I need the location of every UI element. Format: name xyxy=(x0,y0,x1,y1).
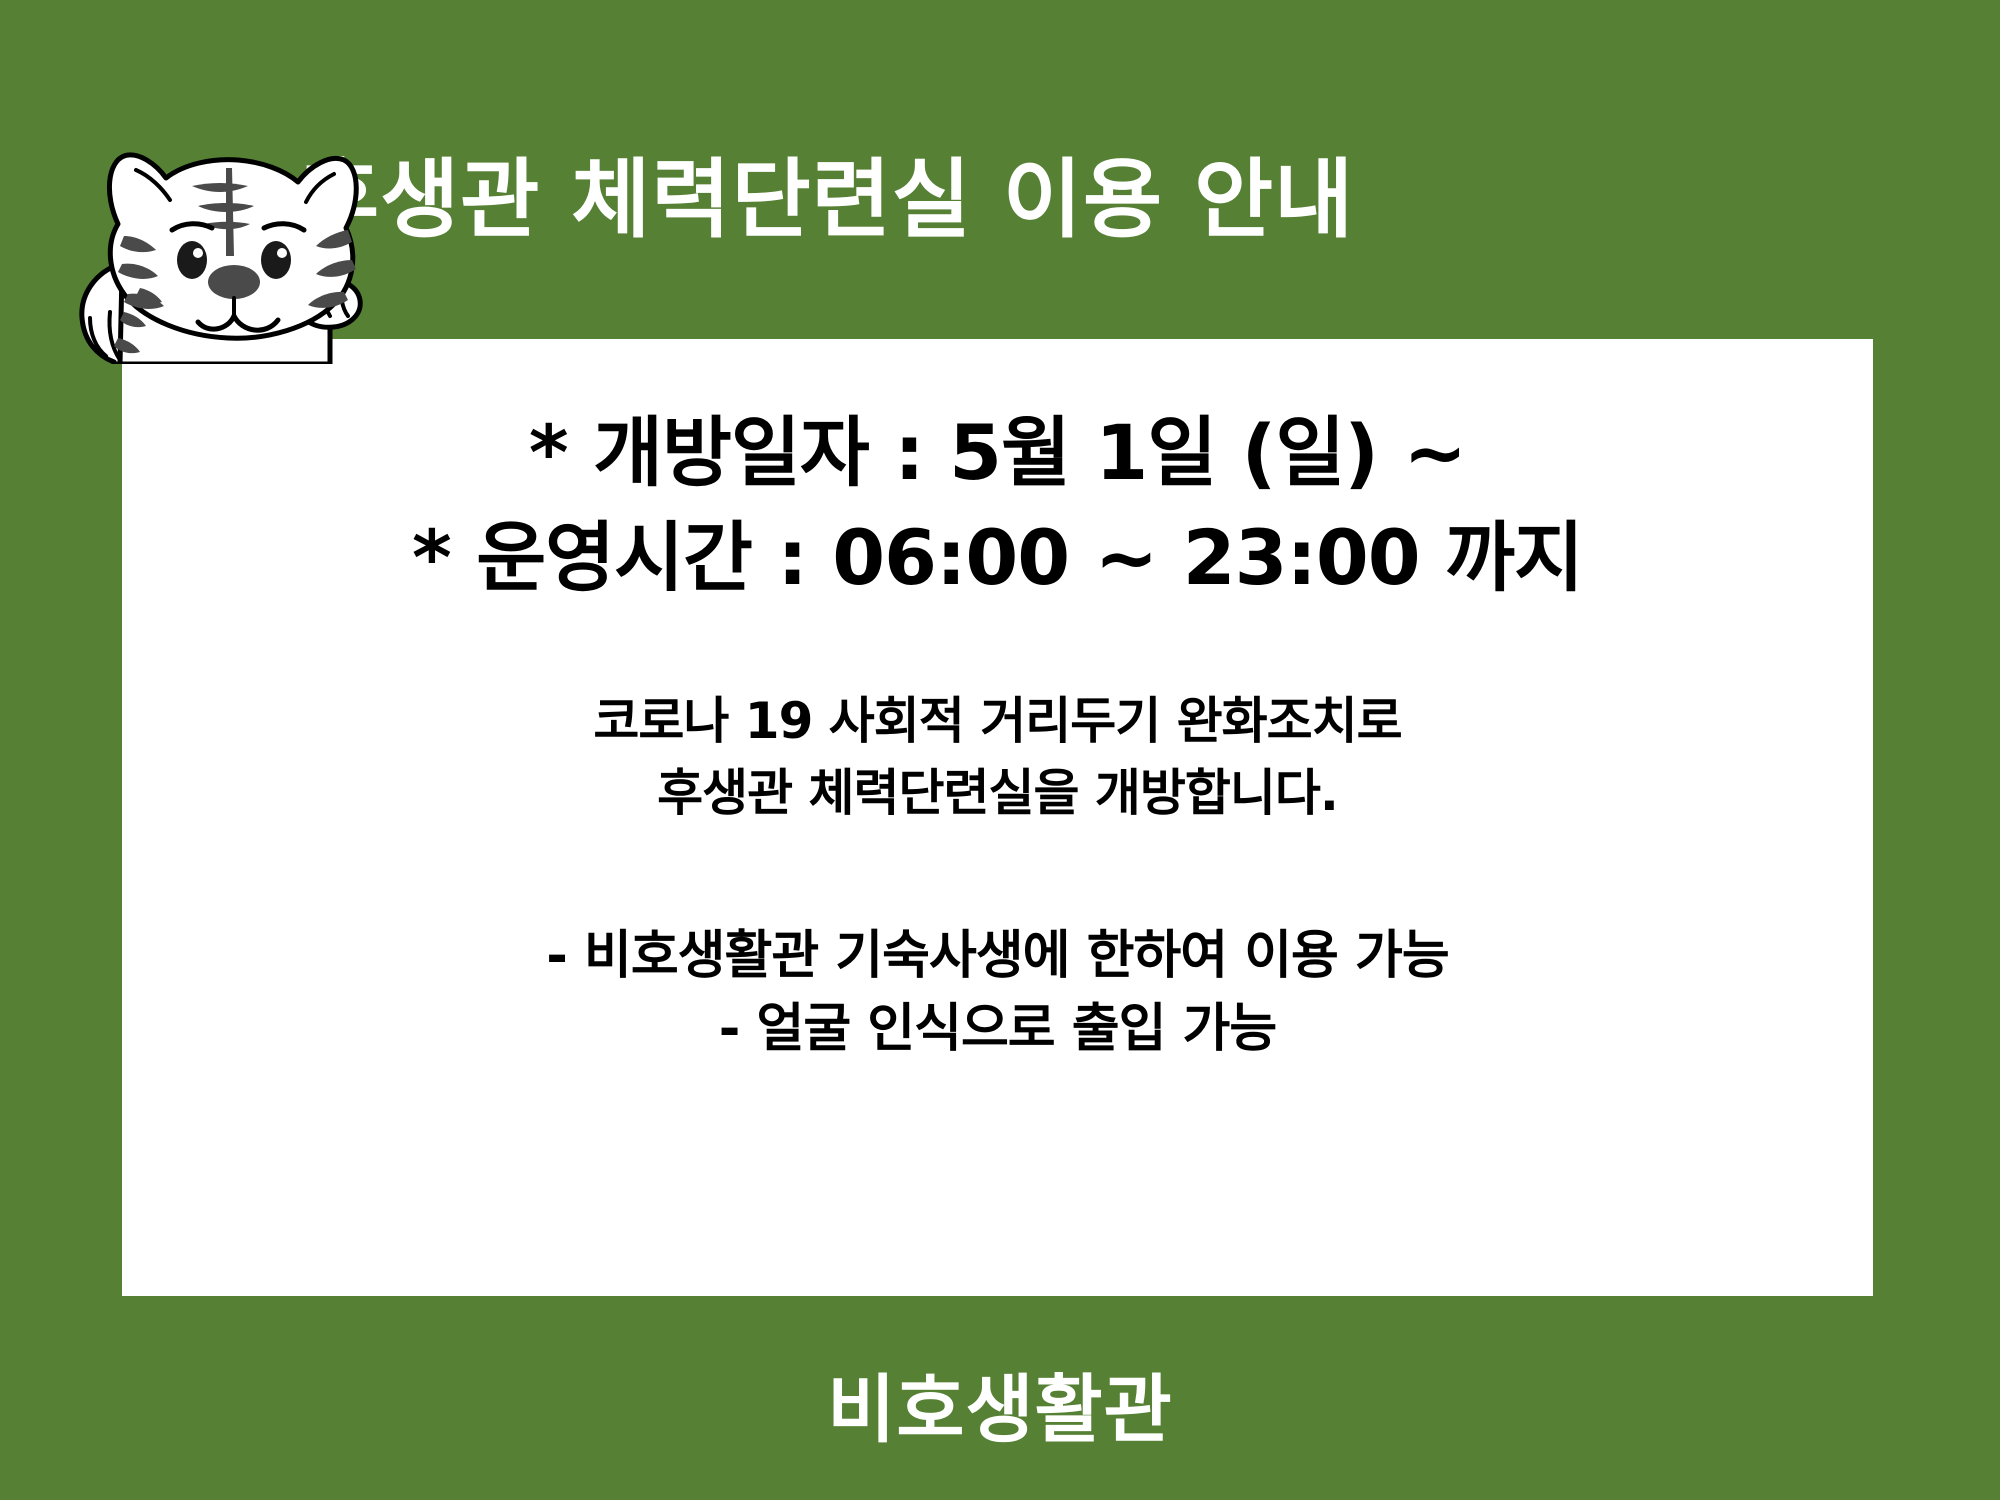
page-title: 후생관 체력단련실 이용 안내 xyxy=(300,140,1720,260)
headline-operating-hours: * 운영시간 : 06:00 ~ 23:00 까지 xyxy=(412,512,1583,605)
white-tiger-mascot-icon xyxy=(62,112,372,364)
body-line-1: 코로나 19 사회적 거리두기 완화조치로 xyxy=(593,690,1401,752)
headline-open-date: * 개방일자 : 5월 1일 (일) ~ xyxy=(529,407,1466,500)
footer-organization: 비호생활관 xyxy=(0,1350,2000,1457)
bullet-residents-only: - 비호생활관 기숙사생에 한하여 이용 가능 xyxy=(546,924,1448,988)
notice-card: * 개방일자 : 5월 1일 (일) ~ * 운영시간 : 06:00 ~ 23… xyxy=(122,339,1873,1296)
body-line-2: 후생관 체력단련실을 개방합니다. xyxy=(657,762,1338,824)
poster-root: 후생관 체력단련실 이용 안내 xyxy=(0,0,2000,1500)
bullet-face-recognition: - 얼굴 인식으로 출입 가능 xyxy=(719,997,1276,1061)
